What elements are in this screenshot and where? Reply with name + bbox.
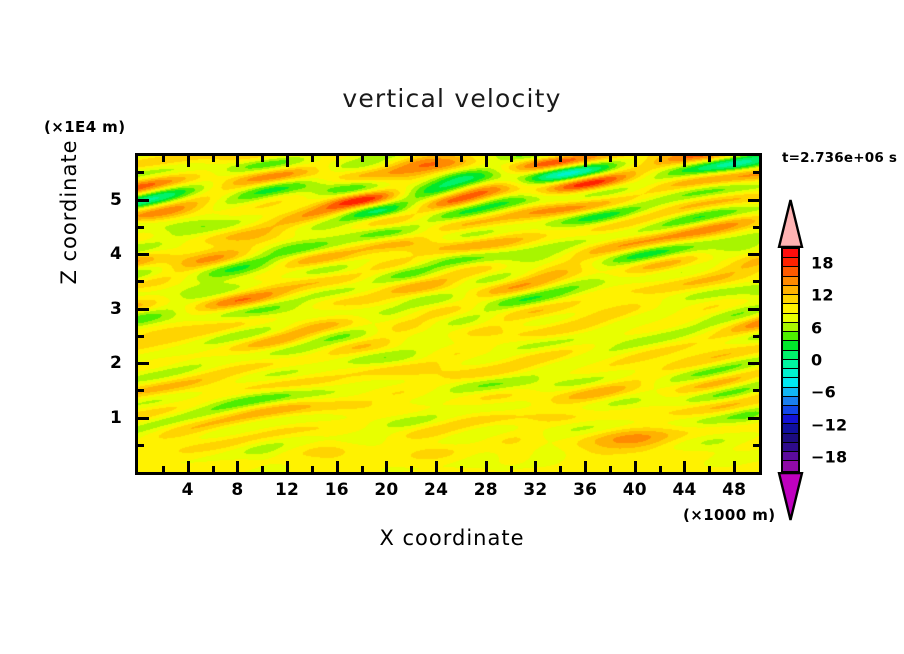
x-tick-top-10 xyxy=(261,156,264,162)
x-tick-bottom-14 xyxy=(311,466,314,472)
x-tick-bottom-12 xyxy=(286,461,289,472)
y-tick-left-2.5 xyxy=(138,335,144,338)
x-tick-bottom-18 xyxy=(361,466,364,472)
x-tick-bottom-24 xyxy=(435,461,438,472)
y-tick-right-4 xyxy=(748,253,759,256)
x-tick-bottom-20 xyxy=(385,461,388,472)
colorbar-band-8 xyxy=(783,323,798,332)
y-tick-right-2.5 xyxy=(753,335,759,338)
x-tick-label-28: 28 xyxy=(474,480,498,500)
x-tick-top-36 xyxy=(584,156,587,167)
contour-plot-area xyxy=(135,153,762,475)
colorbar-band-13 xyxy=(783,369,798,378)
x-tick-bottom-4 xyxy=(187,461,190,472)
y-tick-label-4: 4 xyxy=(104,244,122,264)
colorbar-band-18 xyxy=(783,415,798,424)
x-tick-bottom-42 xyxy=(659,466,662,472)
x-tick-label-12: 12 xyxy=(275,480,299,500)
colorbar-label-5: −12 xyxy=(811,415,847,434)
x-tick-top-46 xyxy=(708,156,711,162)
x-tick-top-4 xyxy=(187,156,190,167)
x-tick-bottom-46 xyxy=(708,466,711,472)
colorbar-band-12 xyxy=(783,360,798,369)
y-tick-label-2: 2 xyxy=(104,353,122,373)
y-tick-label-1: 1 xyxy=(104,408,122,428)
x-tick-bottom-32 xyxy=(534,461,537,472)
colorbar-band-7 xyxy=(783,314,798,323)
colorbar-band-17 xyxy=(783,406,798,415)
colorbar-band-11 xyxy=(783,351,798,360)
y-tick-right-4.5 xyxy=(753,226,759,229)
x-tick-bottom-28 xyxy=(485,461,488,472)
x-tick-top-22 xyxy=(410,156,413,162)
x-tick-top-12 xyxy=(286,156,289,167)
y-tick-right-3 xyxy=(748,308,759,311)
y-tick-left-3 xyxy=(138,308,149,311)
colorbar-band-15 xyxy=(783,388,798,397)
x-tick-bottom-44 xyxy=(683,461,686,472)
y-tick-right-5 xyxy=(748,199,759,202)
x-tick-top-24 xyxy=(435,156,438,167)
x-tick-top-16 xyxy=(336,156,339,167)
x-axis-title: X coordinate xyxy=(0,526,904,550)
y-tick-left-5 xyxy=(138,199,149,202)
colorbar-band-4 xyxy=(783,286,798,295)
colorbar-label-3: 0 xyxy=(811,351,822,370)
x-tick-label-8: 8 xyxy=(231,480,243,500)
y-tick-label-3: 3 xyxy=(104,299,122,319)
colorbar-band-16 xyxy=(783,397,798,406)
page-title: vertical velocity xyxy=(0,84,904,113)
timestamp-annotation: t=2.736e+06 s xyxy=(782,150,897,166)
y-tick-right-0.5 xyxy=(753,444,759,447)
x-tick-bottom-10 xyxy=(261,466,264,472)
y-tick-label-5: 5 xyxy=(104,190,122,210)
x-tick-top-30 xyxy=(510,156,513,162)
x-tick-bottom-22 xyxy=(410,466,413,472)
y-tick-right-5.5 xyxy=(753,171,759,174)
x-tick-label-36: 36 xyxy=(573,480,597,500)
x-tick-top-40 xyxy=(634,156,637,167)
colorbar xyxy=(777,199,803,521)
colorbar-band-20 xyxy=(783,434,798,443)
y-tick-left-5.5 xyxy=(138,171,144,174)
colorbar-band-14 xyxy=(783,378,798,387)
figure-canvas: vertical velocity (×1E4 m) (×1000 m) t=2… xyxy=(0,0,904,654)
x-tick-bottom-36 xyxy=(584,461,587,472)
y-tick-left-4 xyxy=(138,253,149,256)
y-tick-right-2 xyxy=(748,362,759,365)
x-tick-bottom-48 xyxy=(733,461,736,472)
colorbar-label-0: 18 xyxy=(811,254,834,273)
x-tick-top-18 xyxy=(361,156,364,162)
x-tick-label-20: 20 xyxy=(374,480,398,500)
colorbar-band-21 xyxy=(783,443,798,452)
x-tick-top-6 xyxy=(212,156,215,162)
colorbar-band-6 xyxy=(783,304,798,313)
x-tick-bottom-8 xyxy=(236,461,239,472)
colorbar-under-arrow-icon xyxy=(777,472,804,521)
x-tick-top-34 xyxy=(559,156,562,162)
x-tick-top-32 xyxy=(534,156,537,167)
colorbar-bands xyxy=(781,247,800,473)
x-tick-bottom-34 xyxy=(559,466,562,472)
y-tick-left-2 xyxy=(138,362,149,365)
colorbar-band-2 xyxy=(783,267,798,276)
x-tick-top-8 xyxy=(236,156,239,167)
colorbar-label-1: 12 xyxy=(811,286,834,305)
y-axis-title: Z coordinate xyxy=(57,102,81,322)
x-tick-bottom-38 xyxy=(609,466,612,472)
x-tick-label-16: 16 xyxy=(325,480,349,500)
x-tick-top-2 xyxy=(162,156,165,162)
colorbar-label-4: −6 xyxy=(811,383,836,402)
y-tick-left-3.5 xyxy=(138,280,144,283)
colorbar-label-2: 6 xyxy=(811,318,822,337)
colorbar-over-arrow-icon xyxy=(777,199,804,248)
x-tick-label-24: 24 xyxy=(424,480,448,500)
x-tick-bottom-16 xyxy=(336,461,339,472)
y-tick-right-3.5 xyxy=(753,280,759,283)
x-tick-label-4: 4 xyxy=(182,480,194,500)
colorbar-band-1 xyxy=(783,258,798,267)
y-tick-left-0.5 xyxy=(138,444,144,447)
x-tick-top-42 xyxy=(659,156,662,162)
colorbar-band-5 xyxy=(783,295,798,304)
colorbar-band-10 xyxy=(783,341,798,350)
x-tick-top-14 xyxy=(311,156,314,162)
x-tick-top-20 xyxy=(385,156,388,167)
x-tick-label-44: 44 xyxy=(672,480,696,500)
x-tick-bottom-6 xyxy=(212,466,215,472)
x-tick-bottom-40 xyxy=(634,461,637,472)
colorbar-band-23 xyxy=(783,461,798,470)
colorbar-band-0 xyxy=(783,249,798,258)
x-tick-top-26 xyxy=(460,156,463,162)
colorbar-band-3 xyxy=(783,277,798,286)
x-tick-top-48 xyxy=(733,156,736,167)
x-tick-top-38 xyxy=(609,156,612,162)
x-tick-label-48: 48 xyxy=(722,480,746,500)
colorbar-band-19 xyxy=(783,424,798,433)
x-axis-unit-caption: (×1000 m) xyxy=(683,506,775,524)
x-tick-bottom-2 xyxy=(162,466,165,472)
y-tick-right-1.5 xyxy=(753,389,759,392)
colorbar-band-9 xyxy=(783,332,798,341)
colorbar-label-6: −18 xyxy=(811,447,847,466)
x-tick-bottom-26 xyxy=(460,466,463,472)
y-tick-right-1 xyxy=(748,417,759,420)
contour-field xyxy=(138,156,759,472)
x-tick-top-28 xyxy=(485,156,488,167)
y-tick-left-1 xyxy=(138,417,149,420)
colorbar-band-22 xyxy=(783,452,798,461)
x-tick-bottom-30 xyxy=(510,466,513,472)
x-tick-label-32: 32 xyxy=(523,480,547,500)
x-tick-label-40: 40 xyxy=(623,480,647,500)
y-tick-left-4.5 xyxy=(138,226,144,229)
y-tick-left-1.5 xyxy=(138,389,144,392)
x-tick-top-44 xyxy=(683,156,686,167)
